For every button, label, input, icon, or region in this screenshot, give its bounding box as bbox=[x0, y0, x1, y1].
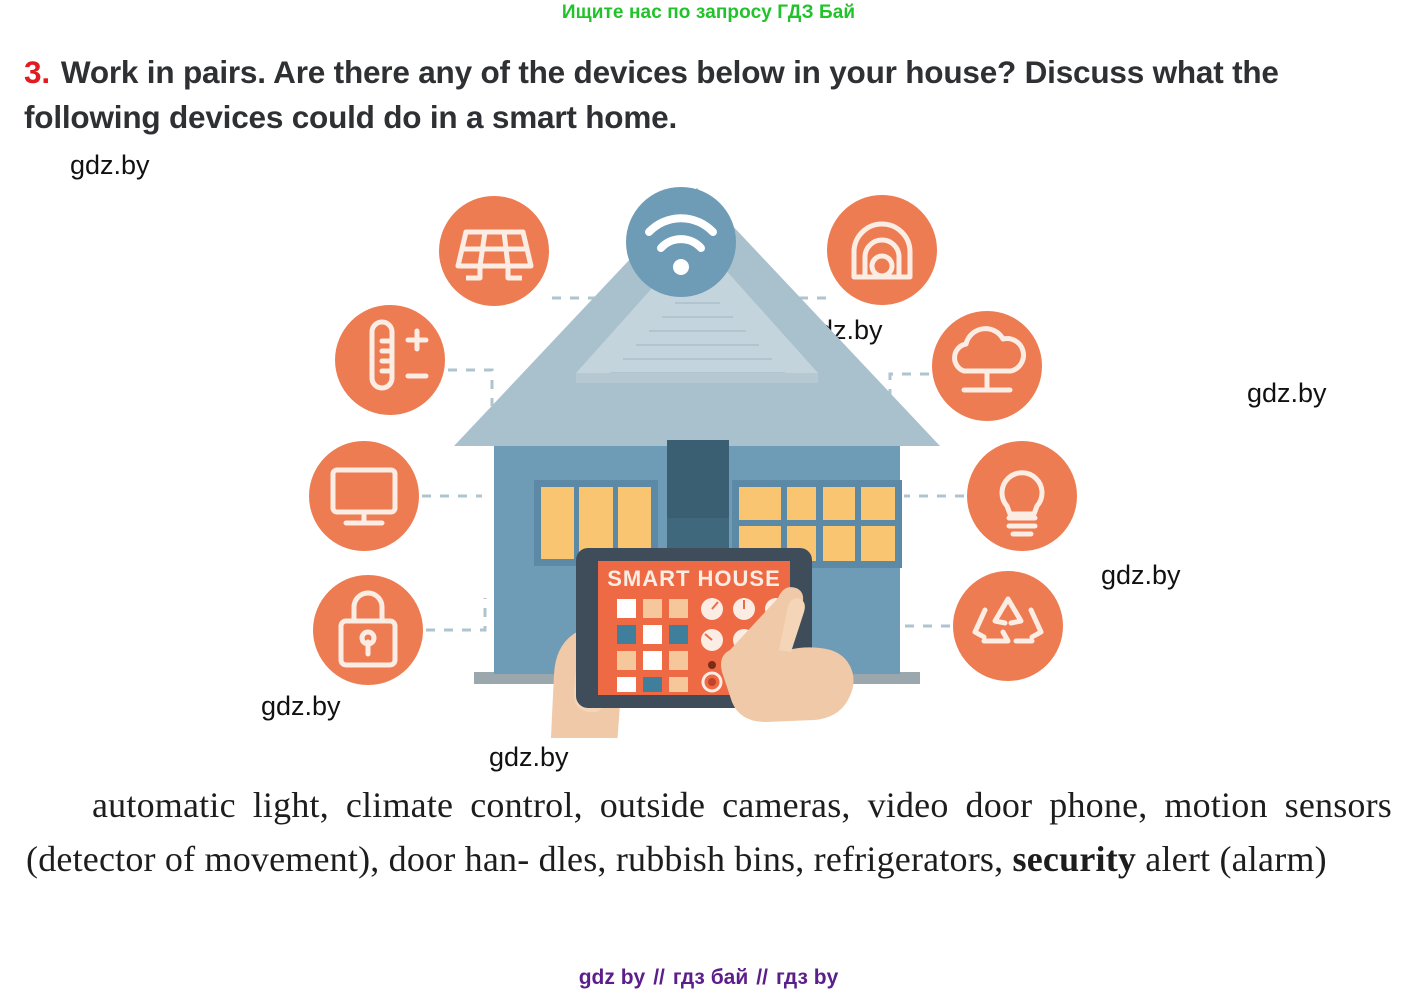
tablet-and-hands: SMART HOUSE bbox=[550, 548, 854, 738]
front-door-panel bbox=[667, 440, 729, 518]
watermark: gdz.by bbox=[1101, 560, 1181, 591]
monitor-icon bbox=[309, 441, 419, 551]
vocab-line-3-b: alert (alarm) bbox=[1136, 839, 1327, 879]
node-cloud bbox=[932, 311, 1042, 421]
watermark: gdz.by bbox=[70, 150, 150, 181]
footer-middle: гдз бай bbox=[673, 966, 748, 989]
exercise-heading: 3.Work in pairs. Are there any of the de… bbox=[24, 50, 1384, 140]
footer-left: gdz by bbox=[579, 966, 646, 989]
vocab-line-1: automatic light, climate control, outsid… bbox=[92, 785, 949, 825]
tablet-label: SMART HOUSE bbox=[607, 566, 781, 591]
node-monitor bbox=[309, 441, 419, 551]
node-recycling bbox=[953, 571, 1063, 681]
footer-right: гдз by bbox=[776, 966, 838, 989]
node-security-camera bbox=[827, 195, 937, 305]
footer-credits: gdz by//гдз бай//гдз by bbox=[0, 966, 1417, 990]
node-wifi bbox=[626, 187, 736, 297]
recycle-icon bbox=[953, 571, 1063, 681]
exercise-prompt: Work in pairs. Are there any of the devi… bbox=[24, 54, 1279, 135]
node-door-lock bbox=[313, 575, 423, 685]
page-root: Ищите нас по запросу ГДЗ Бай 3.Work in p… bbox=[0, 0, 1417, 998]
vocabulary-paragraph: automatic light, climate control, outsid… bbox=[26, 778, 1392, 886]
vocab-bold-security: security bbox=[1013, 839, 1137, 879]
node-solar-panel bbox=[439, 196, 549, 306]
exercise-number: 3. bbox=[24, 54, 50, 90]
node-climate bbox=[335, 305, 445, 415]
footer-separator: // bbox=[756, 966, 768, 989]
watermark: gdz.by bbox=[489, 742, 569, 773]
footer-separator: // bbox=[653, 966, 665, 989]
dome-camera-icon bbox=[827, 195, 937, 305]
vocab-line-3-a: dles, rubbish bins, refrigerators, bbox=[539, 839, 1013, 879]
porch-band bbox=[576, 373, 818, 383]
watermark: gdz.by bbox=[1247, 378, 1327, 409]
smart-house-illustration: SMART HOUSE bbox=[280, 178, 1110, 738]
node-lighting bbox=[967, 441, 1077, 551]
top-banner-text: Ищите нас по запросу ГДЗ Бай bbox=[0, 2, 1417, 24]
window-right-2 bbox=[816, 480, 902, 568]
